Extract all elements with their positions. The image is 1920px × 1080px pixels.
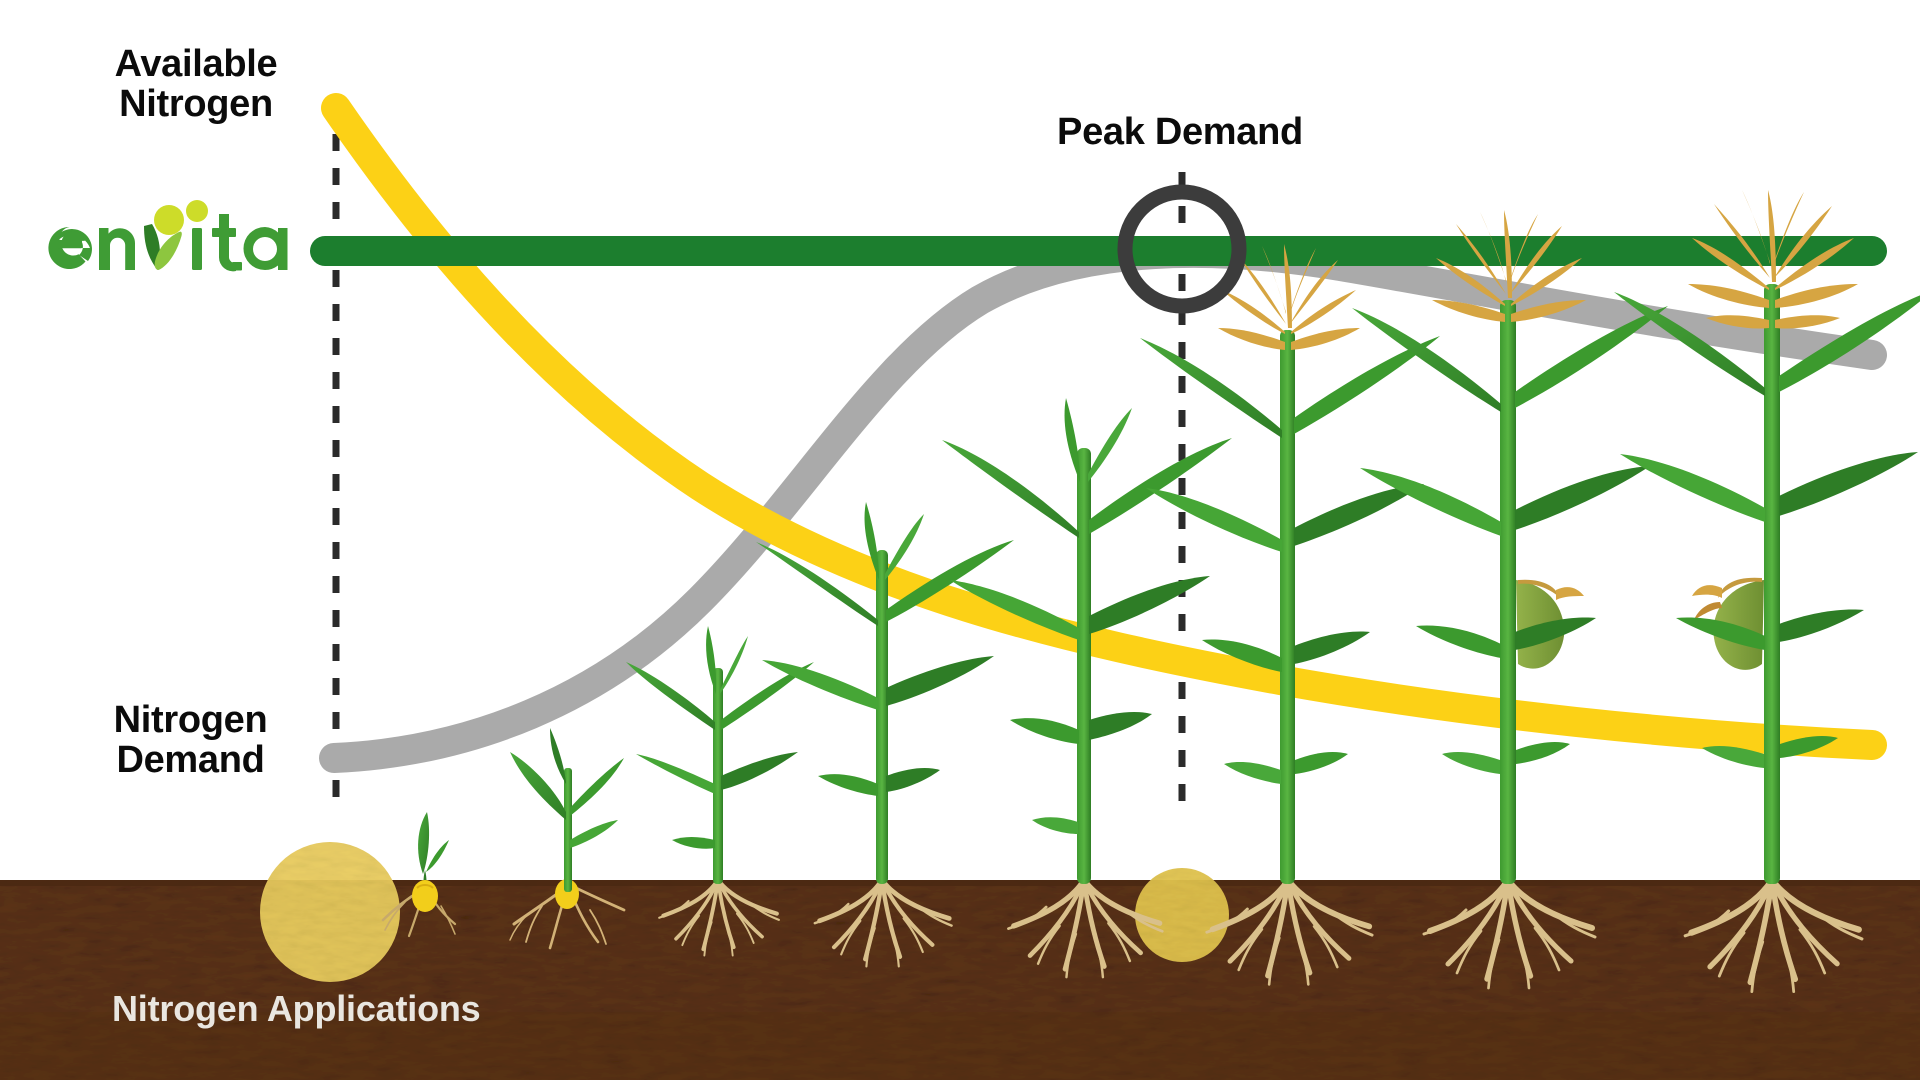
- crop-growth-stages: [383, 190, 1920, 992]
- label-available-nitrogen-line1: Available: [96, 44, 296, 84]
- chart-svg: [0, 0, 1920, 1080]
- label-nitrogen-applications: Nitrogen Applications: [112, 990, 480, 1028]
- label-available-nitrogen: Available Nitrogen: [96, 44, 296, 125]
- label-nitrogen-demand-line1: Nitrogen: [88, 700, 293, 740]
- application-halo-large: [260, 842, 400, 982]
- label-nitrogen-demand-line2: Demand: [88, 740, 293, 780]
- infographic-canvas: Available Nitrogen Nitrogen Demand Peak …: [0, 0, 1920, 1080]
- label-peak-demand: Peak Demand: [1020, 112, 1340, 152]
- envita-logo[interactable]: [44, 196, 299, 274]
- curve-available-nitrogen: [336, 108, 1872, 745]
- label-available-nitrogen-line2: Nitrogen: [96, 84, 296, 124]
- envita-logo-mark: [44, 196, 299, 274]
- label-nitrogen-demand: Nitrogen Demand: [88, 700, 293, 781]
- curve-nitrogen-demand: [334, 253, 1872, 758]
- application-halo-small: [1135, 868, 1229, 962]
